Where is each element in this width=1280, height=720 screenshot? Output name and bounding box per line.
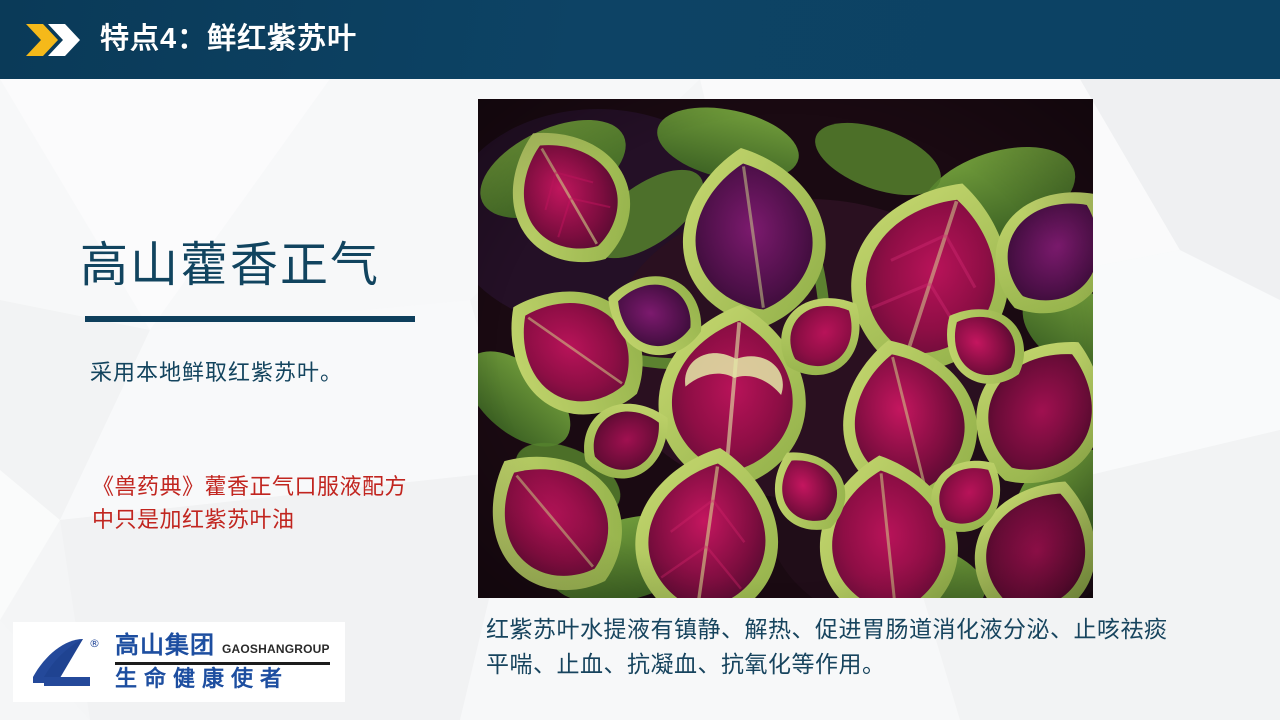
logo-divider <box>115 662 330 665</box>
brand-heading-underline <box>85 316 415 322</box>
photo-caption: 红紫苏叶水提液有镇静、解热、促进胃肠道消化液分泌、止咳祛痰平喘、止血、抗凝血、抗… <box>486 612 1186 682</box>
logo-slogan: 生命健康使者 <box>115 669 330 691</box>
header-chevron-group <box>26 23 82 57</box>
pharmacopoeia-note: 《兽药典》藿香正气口服液配方中只是加红紫苏叶油 <box>92 470 410 537</box>
brand-subtitle: 采用本地鲜取红紫苏叶。 <box>90 355 343 387</box>
brand-heading: 高山藿香正气 <box>80 242 380 290</box>
logo-company-row: 高山集团 GAOSHANGROUP <box>115 633 330 657</box>
logo-text-block: 高山集团 GAOSHANGROUP 生命健康使者 <box>115 633 330 691</box>
slide-header-bar: 特点4：鲜红紫苏叶 <box>0 0 1280 79</box>
gaoshan-logo-mark: ® <box>27 633 101 691</box>
company-logo: ® 高山集团 GAOSHANGROUP 生命健康使者 <box>13 622 345 702</box>
registered-trademark-icon: ® <box>89 637 100 650</box>
perilla-photo-illustration <box>478 99 1093 598</box>
red-perilla-leaves-photo <box>478 99 1093 598</box>
logo-company-cn: 高山集团 <box>115 633 215 657</box>
logo-company-en: GAOSHANGROUP <box>222 643 330 657</box>
page-title: 特点4：鲜红紫苏叶 <box>100 25 357 54</box>
